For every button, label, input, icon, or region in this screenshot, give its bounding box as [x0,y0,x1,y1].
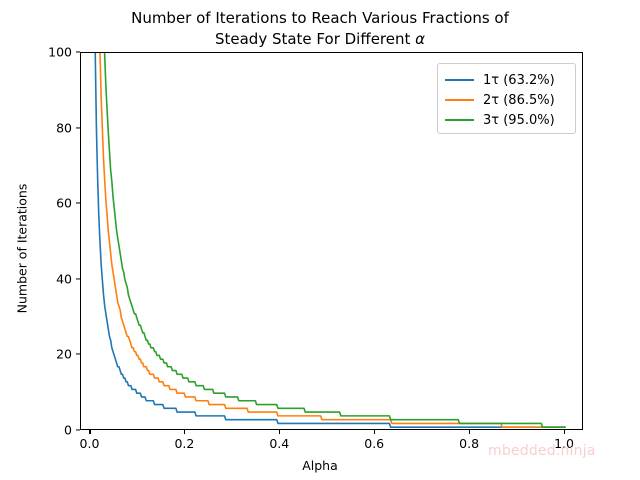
y-tick-label: 100 [26,45,72,60]
legend-color-swatch [445,99,474,101]
legend-label: 2τ (86.5%) [483,93,555,108]
x-tick-mark [374,430,375,434]
x-tick-mark [184,430,185,434]
legend-item[interactable]: 3τ (95.0%) [445,110,568,130]
chart-legend[interactable]: 1τ (63.2%)2τ (86.5%)3τ (95.0%) [437,63,576,134]
legend-label: 1τ (63.2%) [483,73,555,88]
y-tick-label: 60 [26,196,72,211]
y-tick-label: 20 [26,347,72,362]
x-tick-label: 0.6 [344,436,404,451]
chart-figure: Number of Iterations to Reach Various Fr… [0,0,640,480]
y-axis-label: Number of Iterations [15,149,30,349]
legend-label: 3τ (95.0%) [483,113,555,128]
x-tick-mark [89,430,90,434]
legend-item[interactable]: 1τ (63.2%) [445,70,568,90]
x-tick-mark [564,430,565,434]
x-tick-mark [279,430,280,434]
x-tick-mark [469,430,470,434]
x-tick-label: 0.2 [154,436,214,451]
legend-color-swatch [445,119,474,121]
x-axis-label: Alpha [0,458,640,473]
y-tick-label: 80 [26,120,72,135]
legend-color-swatch [445,79,474,81]
y-tick-label: 40 [26,271,72,286]
legend-item[interactable]: 2τ (86.5%) [445,90,568,110]
watermark: mbedded.ninja [488,443,596,459]
x-tick-label: 0.4 [249,436,309,451]
x-tick-label: 0.0 [59,436,119,451]
